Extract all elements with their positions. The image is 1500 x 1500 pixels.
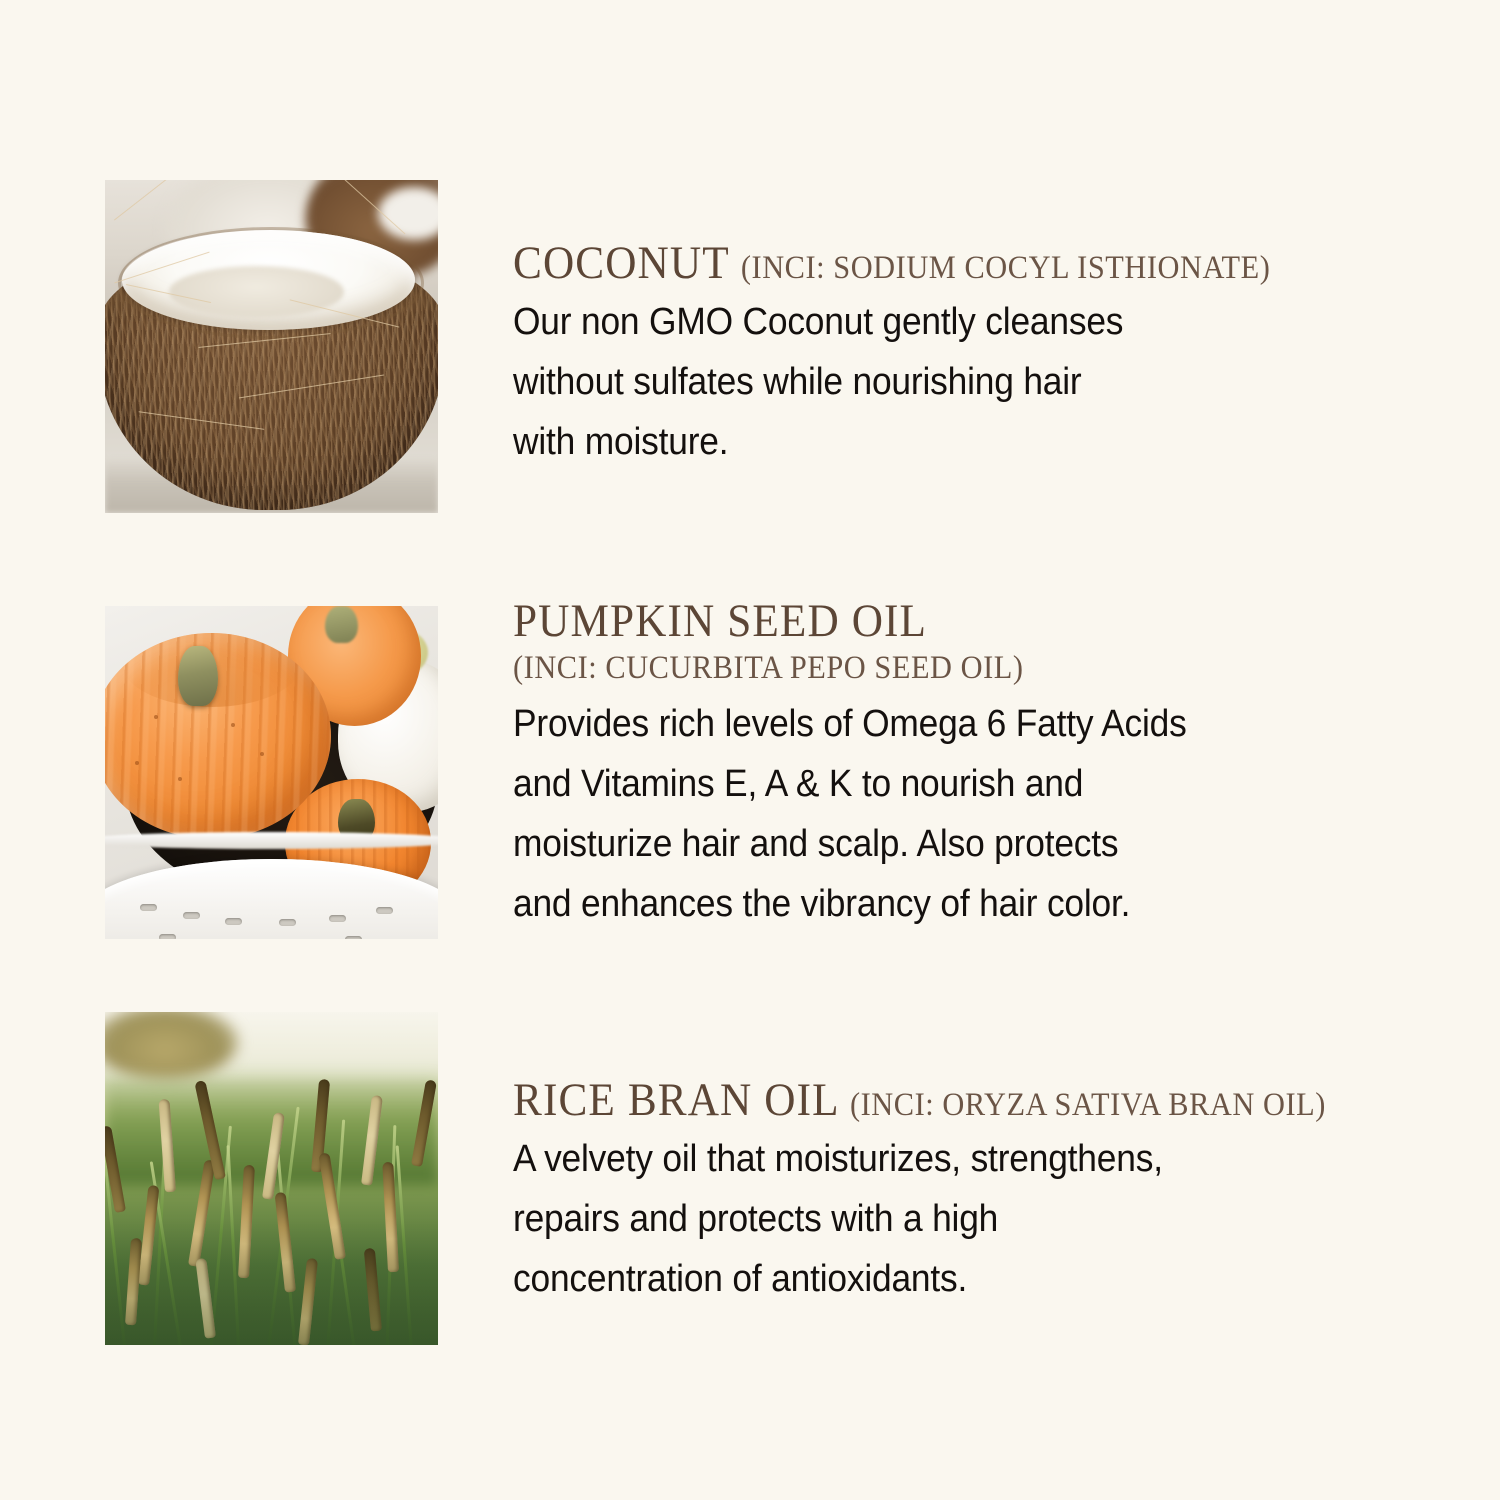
coconut-half-photo <box>105 180 438 513</box>
rice-description-line: A velvety oil that moisturizes, strength… <box>513 1129 1397 1189</box>
coconut-description-line: without sulfates while nourishing hair <box>513 352 1397 412</box>
rice-description: A velvety oil that moisturizes, strength… <box>513 1129 1397 1309</box>
colander-slot <box>329 915 346 922</box>
pumpkin-description-line: and enhances the vibrancy of hair color. <box>513 874 1397 934</box>
pumpkin-speck <box>135 761 139 765</box>
colander-slot <box>183 912 200 919</box>
foreground-shadow <box>105 1218 438 1345</box>
coconut-heading-name: COCONUT <box>513 237 729 289</box>
pumpkin-stem <box>325 606 358 643</box>
colander-slot <box>279 919 296 926</box>
rice-heading-name: RICE BRAN OIL <box>513 1074 838 1126</box>
pumpkin-speck <box>154 715 158 719</box>
pumpkin-description-line: and Vitamins E, A & K to nourish and <box>513 754 1397 814</box>
colander-slot <box>140 904 157 911</box>
ingredient-benefits-page: COCONUT (INCI: SODIUM COCYL ISTHIONATE) … <box>0 0 1500 1500</box>
pumpkin-speck <box>260 752 264 756</box>
pumpkin-description-line: Provides rich levels of Omega 6 Fatty Ac… <box>513 694 1397 754</box>
rice-inci-name: (INCI: ORYZA SATIVA BRAN OIL) <box>850 1087 1326 1123</box>
coconut-description: Our non GMO Coconut gently cleanses with… <box>513 292 1397 472</box>
rice-description-line: repairs and protects with a high <box>513 1189 1397 1249</box>
coconut-inci-name: (INCI: SODIUM COCYL ISTHIONATE) <box>741 250 1271 286</box>
colander-slot <box>345 936 362 939</box>
coconut-description-line: Our non GMO Coconut gently cleanses <box>513 292 1397 352</box>
rice-description-line: concentration of antioxidants. <box>513 1249 1397 1309</box>
coconut-description-line: with moisture. <box>513 412 1397 472</box>
colander-slot <box>225 918 242 925</box>
coconut-copy-block: COCONUT (INCI: SODIUM COCYL ISTHIONATE) … <box>513 240 1463 472</box>
pumpkin-speck <box>231 723 235 727</box>
rice-image-frame <box>105 1012 438 1345</box>
coconut-image-frame <box>105 180 438 513</box>
pumpkin-image-frame <box>105 606 438 939</box>
colander-rim <box>105 832 438 849</box>
white-colander-body <box>105 859 438 939</box>
pumpkin-description: Provides rich levels of Omega 6 Fatty Ac… <box>513 694 1397 934</box>
pumpkin-heading: PUMPKIN SEED OIL <box>513 598 1387 646</box>
pumpkin-inci-name: (INCI: CUCURBITA PEPO SEED OIL) <box>513 650 1387 688</box>
rice-heading: RICE BRAN OIL (INCI: ORYZA SATIVA BRAN O… <box>513 1077 1387 1125</box>
pumpkin-speck <box>178 777 182 781</box>
rice-copy-block: RICE BRAN OIL (INCI: ORYZA SATIVA BRAN O… <box>513 1077 1463 1309</box>
colander-slot <box>376 907 393 914</box>
pumpkins-in-colander-photo <box>105 606 438 939</box>
pumpkin-description-line: moisturize hair and scalp. Also protects <box>513 814 1397 874</box>
rice-grain-field-photo <box>105 1012 438 1345</box>
coconut-heading: COCONUT (INCI: SODIUM COCYL ISTHIONATE) <box>513 240 1387 288</box>
colander-slot <box>159 934 176 939</box>
pumpkin-copy-block: PUMPKIN SEED OIL (INCI: CUCURBITA PEPO S… <box>513 598 1463 934</box>
pumpkin-stem <box>178 646 218 706</box>
